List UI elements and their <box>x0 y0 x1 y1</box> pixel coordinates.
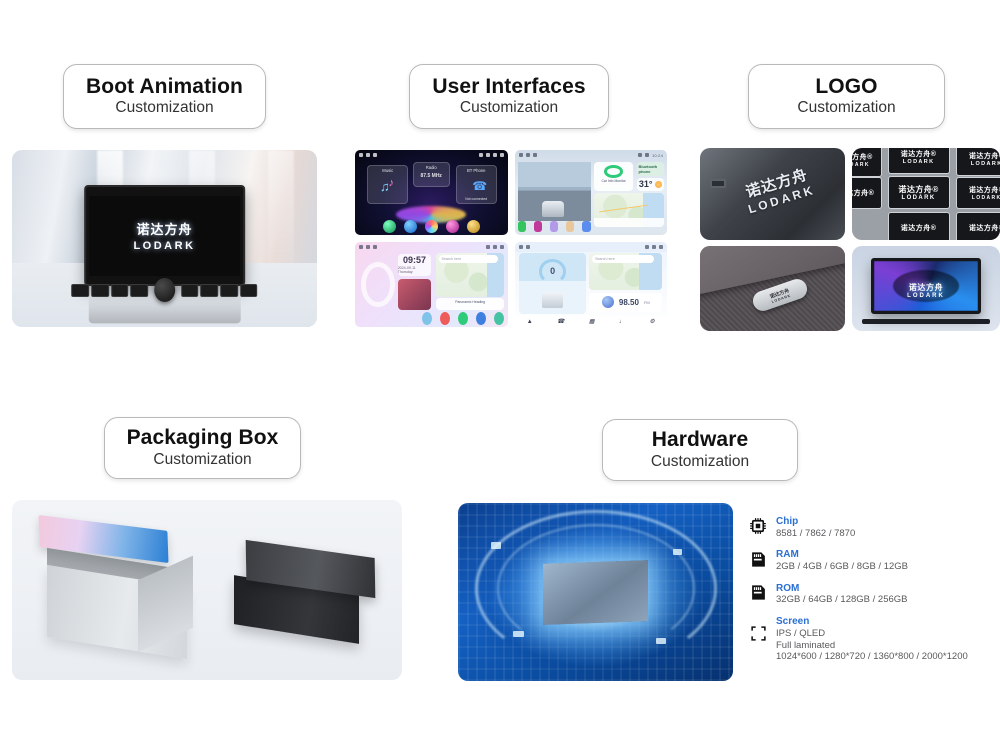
brand-logo-group: 诺达方舟 LODARK <box>874 282 978 299</box>
temperature-value: 31° <box>639 179 653 189</box>
device-reflection <box>88 295 241 323</box>
album-art-widget[interactable] <box>398 279 432 310</box>
map-search-bar[interactable]: Search here <box>439 255 498 263</box>
section-title: Boot Animation <box>86 75 243 99</box>
section-label-hardware: Hardware Customization <box>602 419 798 481</box>
section-label-boot-animation: Boot Animation Customization <box>63 64 266 129</box>
navbar-icon-navigation[interactable]: ▲ <box>527 319 533 325</box>
bt-card-label: Bluetooth phone <box>637 162 664 176</box>
hardware-chip-image <box>458 503 733 681</box>
brand-logo-cn: 诺达方舟® <box>852 152 873 162</box>
music-widget-label: Music <box>368 168 407 173</box>
map-info-bar: Panoramic Heading <box>436 298 505 310</box>
dock-icon-navigation[interactable] <box>383 220 396 233</box>
spec-value: 32GB / 64GB / 128GB / 256GB <box>776 594 908 606</box>
circular-launcher[interactable] <box>361 262 395 306</box>
brand-logo-en: LODARK <box>903 159 935 165</box>
spec-row-chip: Chip 8581 / 7862 / 7870 <box>748 516 996 539</box>
navbar-icon-settings[interactable]: ⚙ <box>649 318 654 325</box>
dock-icon-add[interactable] <box>494 312 504 325</box>
bt-widget-label: BT Phone <box>457 168 496 173</box>
logo-label: 诺达方舟® LODARK <box>956 148 1000 176</box>
brand-logo-en: LODARK <box>133 240 195 252</box>
map-bottom-bar <box>594 218 664 227</box>
dock-icon-music[interactable] <box>446 220 459 233</box>
car-info-label: Car Info Monitor <box>594 179 634 183</box>
radio-card[interactable]: 98.50 FM <box>589 293 662 312</box>
circuit-pad <box>656 638 666 644</box>
spec-name: ROM <box>776 583 908 595</box>
dock-icon-phone[interactable] <box>458 312 468 325</box>
spec-row-ram: RAM 2GB / 4GB / 6GB / 8GB / 12GB <box>748 549 996 572</box>
spec-value: Full laminated <box>776 640 968 652</box>
marketing-page: Boot Animation Customization User Interf… <box>0 0 1000 750</box>
status-bar: 10:24 <box>515 150 668 160</box>
speed-value: 0 <box>550 266 555 276</box>
status-icons-left <box>519 153 537 157</box>
ui-thumbnail-pink-clock[interactable]: 09:57 2024-09-11 Thursday Search here Pa… <box>355 242 508 327</box>
hardkey-button[interactable] <box>240 284 258 297</box>
section-label-user-interfaces: User Interfaces Customization <box>409 64 609 129</box>
dock-icon-settings[interactable] <box>422 312 432 325</box>
logo-label: 诺达方舟® <box>852 177 882 208</box>
music-widget[interactable]: Music ♫ ♪ <box>367 165 408 204</box>
bluetooth-phone-card[interactable]: Bluetooth phone <box>637 162 664 176</box>
radio-frequency: 87.5 MHz <box>414 173 449 179</box>
spec-value: 2GB / 4GB / 6GB / 8GB / 12GB <box>776 561 908 573</box>
dock-icon-apps[interactable] <box>550 221 558 232</box>
dock-icon-apps[interactable] <box>425 220 438 233</box>
dock-icon-phone[interactable] <box>518 221 526 232</box>
radio-widget[interactable]: Radio 87.5 MHz <box>413 162 450 188</box>
navbar-icon-media[interactable]: ♩ <box>619 319 625 325</box>
spec-row-rom: ROM 32GB / 64GB / 128GB / 256GB <box>748 583 996 606</box>
radio-widget-label: Radio <box>414 165 449 170</box>
section-subtitle: Customization <box>797 99 895 118</box>
speed-gauge: 0 <box>539 259 566 283</box>
navbar-icon-apps[interactable]: ▦ <box>589 318 595 325</box>
map-card[interactable]: Search here <box>589 253 662 290</box>
brand-logo-cn: 诺达方舟® <box>898 184 938 195</box>
section-title: Hardware <box>652 428 749 452</box>
brand-logo-cn: 诺达方舟® <box>969 223 1000 233</box>
brand-logo-en: LODARK <box>971 161 1000 167</box>
map-card[interactable] <box>594 193 664 227</box>
logo-image-label-sheet: 诺达方舟® LODARK 诺达方舟® LODARK 诺达方舟® LODARK 诺… <box>852 148 1000 240</box>
ram-icon <box>748 549 768 569</box>
status-icons-left <box>359 153 377 157</box>
dock-icon-apps[interactable] <box>476 312 486 325</box>
spec-text-block: ROM 32GB / 64GB / 128GB / 256GB <box>776 583 908 606</box>
brand-logo-cn: 诺达方舟 <box>874 282 978 293</box>
radio-icon <box>602 296 614 308</box>
status-icons-left <box>359 245 377 249</box>
car-graphic <box>542 201 564 216</box>
brand-logo-en: LODARK <box>902 195 936 201</box>
clock-time: 09:57 <box>403 256 426 265</box>
section-subtitle: Customization <box>460 99 558 118</box>
spec-text-block: RAM 2GB / 4GB / 6GB / 8GB / 12GB <box>776 549 908 572</box>
logo-image-device-slab: 诺达方舟 LODARK <box>700 148 845 240</box>
brand-logo-en: LODARK <box>874 293 978 299</box>
brand-logo-cn: 诺达方舟® <box>901 149 937 159</box>
map-search-placeholder: Search here <box>442 257 462 261</box>
circuit-pad <box>673 549 682 555</box>
dock-icon-settings[interactable] <box>467 220 480 233</box>
logo-label: 诺达方舟® <box>888 212 950 240</box>
spec-name: RAM <box>776 549 908 561</box>
brand-logo-en: LODARK <box>972 195 1000 201</box>
road-scene <box>518 162 591 222</box>
dock-icon-music[interactable] <box>534 221 542 232</box>
head-unit-screen: 诺达方舟 LODARK <box>89 196 240 275</box>
brand-logo-cn: 诺达方舟 <box>136 219 192 238</box>
status-icons-right: 10:24 <box>638 153 663 158</box>
car-info-monitor-card[interactable]: Car Info Monitor <box>594 162 634 191</box>
ui-thumbnail-drive-map[interactable]: 10:24 Car Info Monitor Bluetooth phone 3… <box>515 150 668 235</box>
ui-thumbnail-speed-radio[interactable]: 0 Search here 98.50 FM ▲ ☎ ▦ ♩ <box>515 242 668 327</box>
driving-view[interactable]: 0 <box>519 253 586 314</box>
section-title: User Interfaces <box>432 75 585 99</box>
logo-label: 诺达方舟® LODARK <box>888 176 950 209</box>
brand-logo-cn: 诺达方舟® <box>901 223 937 233</box>
hardware-spec-list: Chip 8581 / 7862 / 7870 RAM 2GB / 4GB / … <box>748 516 996 663</box>
section-subtitle: Customization <box>153 451 251 470</box>
circuit-pad <box>513 631 524 637</box>
sun-icon <box>655 181 662 188</box>
status-bar <box>355 242 508 252</box>
logo-label: 诺达方舟® LODARK <box>852 148 882 177</box>
dock-icon-radio[interactable] <box>566 221 574 232</box>
map-info-label: Panoramic Heading <box>436 300 505 304</box>
packaging-box-image <box>12 500 402 680</box>
brand-logo-cn: 诺达方舟® <box>969 185 1000 195</box>
dock-icon-phone[interactable] <box>404 220 417 233</box>
section-subtitle: Customization <box>651 453 749 472</box>
dock-bar <box>518 221 591 232</box>
spec-name: Chip <box>776 516 855 528</box>
bluetooth-phone-widget[interactable]: BT Phone ☎ Not connected <box>456 165 497 204</box>
screen-icon <box>748 616 768 636</box>
cpu-die <box>543 560 647 624</box>
section-subtitle: Customization <box>115 99 213 118</box>
weather-card[interactable]: 31° <box>637 178 664 191</box>
status-icons-right <box>645 245 663 249</box>
brand-logo-group: 诺达方舟 LODARK <box>740 163 817 217</box>
spec-value: 8581 / 7862 / 7870 <box>776 528 855 540</box>
spec-name: Screen <box>776 616 968 628</box>
status-bar <box>355 150 508 160</box>
section-label-packaging-box: Packaging Box Customization <box>104 417 301 479</box>
clock-date: 2024-09-11 Thursday <box>398 266 432 274</box>
car-head-unit: 诺达方舟 LODARK <box>84 185 246 286</box>
rom-icon <box>748 583 768 603</box>
car-graphic <box>542 292 563 308</box>
metal-logo-tag: 诺达方舟 LODARK <box>750 277 809 314</box>
brand-logo-cn: 诺达方舟® <box>852 188 874 198</box>
spec-value: IPS / QLED <box>776 628 968 640</box>
logo-image-fabric-tag: 诺达方舟 LODARK <box>700 246 845 331</box>
status-bar <box>515 242 668 252</box>
bt-status: Not connected <box>457 197 496 201</box>
map-card[interactable]: Search here <box>436 253 505 297</box>
ui-thumbnail-dark-radio[interactable]: Music ♫ ♪ Radio 87.5 MHz BT Phone ☎ Not … <box>355 150 508 235</box>
status-icons-right <box>486 245 504 249</box>
logo-label: 诺达方舟® LODARK <box>956 177 1000 208</box>
hardkey-button[interactable] <box>72 284 90 297</box>
brand-logo-cn: 诺达方舟® <box>969 151 1000 161</box>
device-base <box>862 319 989 324</box>
spec-text-block: Screen IPS / QLED Full laminated 1024*60… <box>776 616 968 663</box>
logo-label: 诺达方舟® LODARK <box>888 148 950 174</box>
spec-text-block: Chip 8581 / 7862 / 7870 <box>776 516 855 539</box>
status-icons-right <box>479 153 504 157</box>
chip-icon <box>748 516 768 536</box>
usb-port <box>710 179 726 188</box>
dock-bar <box>355 220 508 233</box>
spec-row-screen: Screen IPS / QLED Full laminated 1024*60… <box>748 616 996 663</box>
spec-value: 1024*600 / 1280*720 / 1360*800 / 2000*12… <box>776 651 968 663</box>
section-title: Packaging Box <box>127 426 279 450</box>
section-title: LOGO <box>815 75 877 99</box>
ui-thumbnail-grid: Music ♫ ♪ Radio 87.5 MHz BT Phone ☎ Not … <box>355 150 667 327</box>
clock-widget[interactable]: 09:57 2024-09-11 Thursday <box>398 254 432 276</box>
brand-logo-en: LODARK <box>852 162 870 168</box>
status-icons-left <box>519 245 530 249</box>
light-bar <box>268 150 294 267</box>
map-search-placeholder: Search here <box>595 257 615 261</box>
map-search-bar[interactable]: Search here <box>592 255 653 263</box>
dock-icon-grid[interactable] <box>582 221 590 232</box>
navigation-bar: ▲ ☎ ▦ ♩ ⚙ <box>515 316 668 327</box>
circuit-pad <box>491 542 501 549</box>
navbar-icon-phone[interactable]: ☎ <box>557 318 564 325</box>
boot-animation-image: 诺达方舟 LODARK <box>12 150 317 327</box>
dock-icon-music[interactable] <box>440 312 450 325</box>
radio-band: FM <box>644 300 650 305</box>
display-device: 诺达方舟 LODARK <box>871 258 981 314</box>
radio-frequency: 98.50 <box>619 298 639 307</box>
section-label-logo: LOGO Customization <box>748 64 945 129</box>
logo-label: 诺达方舟® <box>956 212 1000 240</box>
logo-image-boot-screen: 诺达方舟 LODARK <box>852 246 1000 331</box>
dock-bar <box>422 312 504 325</box>
